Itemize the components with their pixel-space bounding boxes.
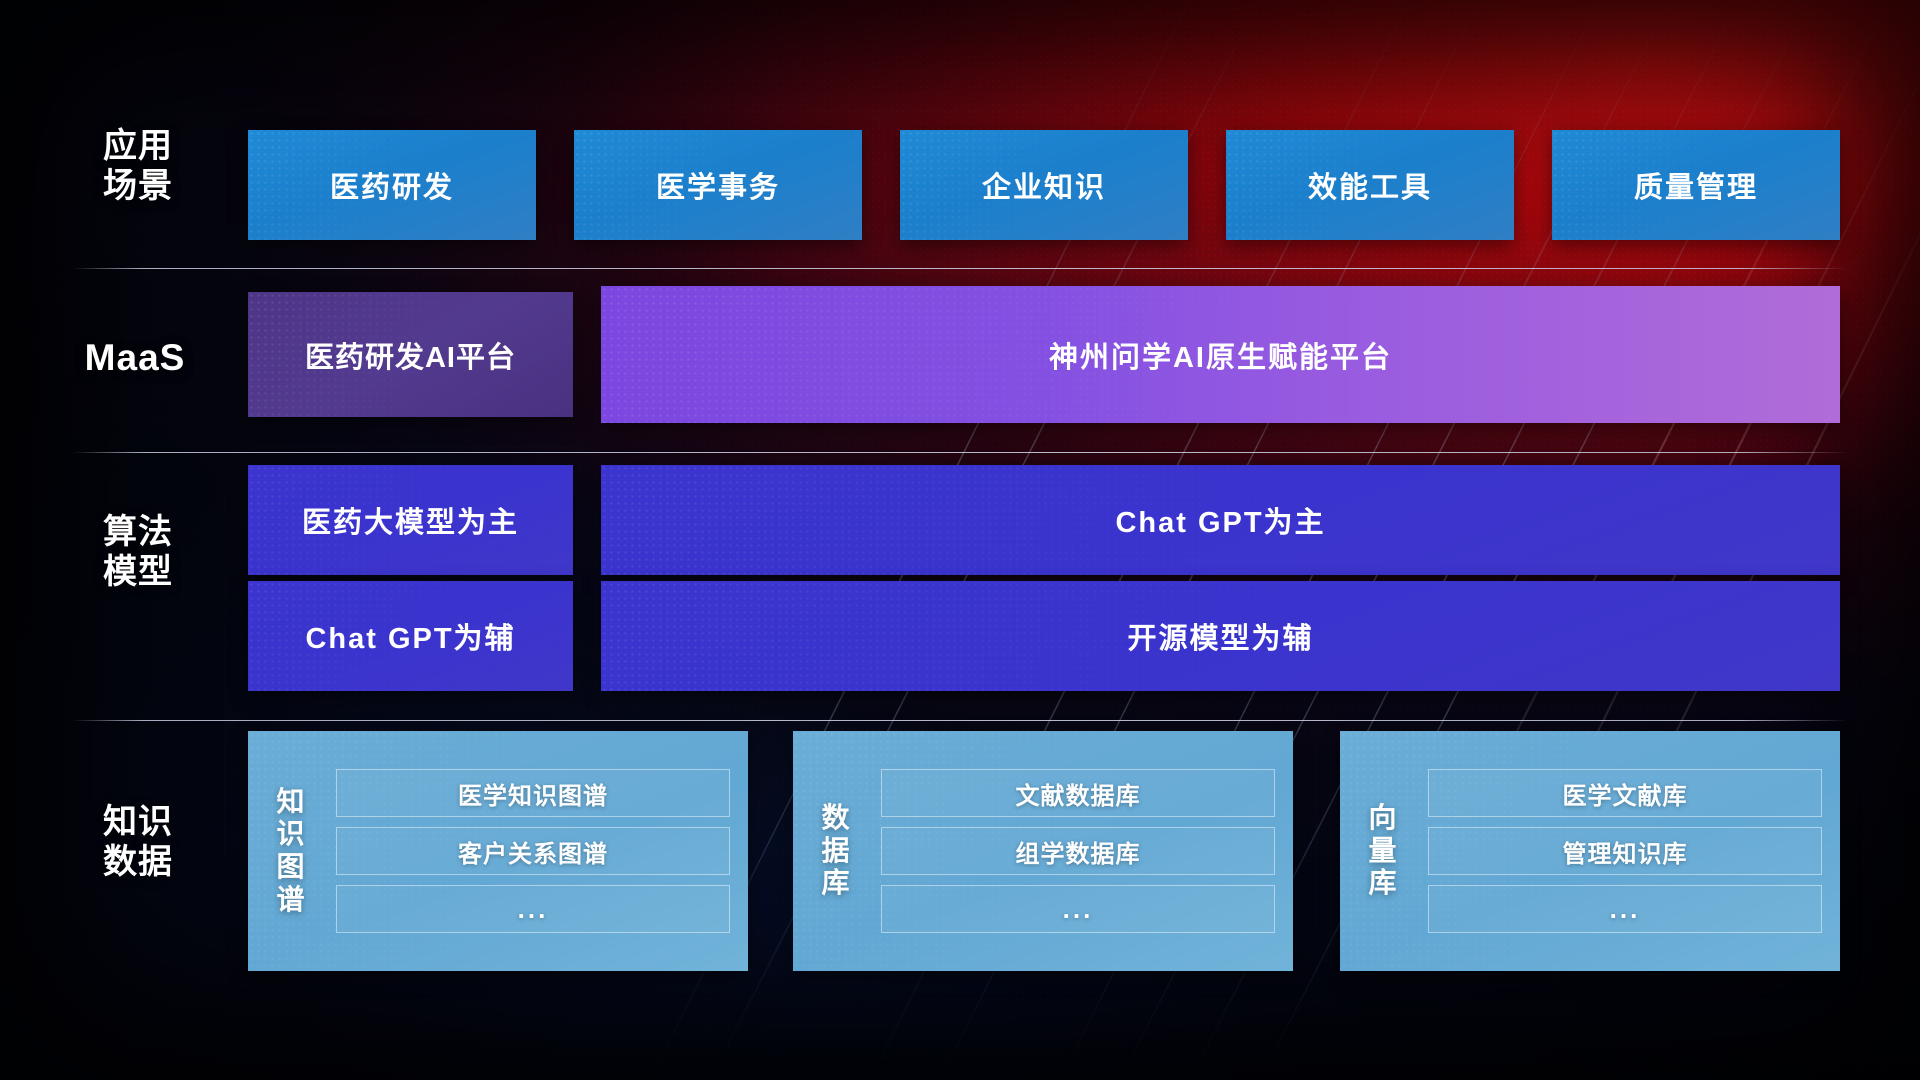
app-box-label: 医药研发 bbox=[330, 164, 454, 206]
knowledge-group-label-char: 量 bbox=[1368, 835, 1397, 868]
algo-box-label: 开源模型为辅 bbox=[1127, 615, 1313, 657]
knowledge-group-label-char: 图 bbox=[276, 851, 305, 884]
app-box-medical-affairs[interactable]: 医学事务 bbox=[574, 130, 862, 240]
tier-label-application-line1: 应用 bbox=[78, 126, 198, 166]
app-box-label: 医学事务 bbox=[656, 164, 780, 206]
knowledge-item[interactable]: 客户关系图谱 bbox=[336, 827, 730, 875]
knowledge-item[interactable]: 文献数据库 bbox=[881, 769, 1275, 817]
tier-label-maas: MaaS bbox=[70, 336, 200, 380]
knowledge-group-label-char: 库 bbox=[1368, 867, 1397, 900]
tier-label-application: 应用 场景 bbox=[78, 126, 198, 206]
tier-label-knowledge-line2: 数据 bbox=[78, 842, 198, 882]
maas-left-label: 医药研发AI平台 bbox=[305, 334, 516, 376]
algo-box-chatgpt-secondary[interactable]: Chat GPT为辅 bbox=[248, 581, 573, 691]
algo-box-label: Chat GPT为主 bbox=[1115, 499, 1325, 541]
knowledge-group-label: 知 识 图 谱 bbox=[248, 731, 334, 971]
knowledge-item[interactable]: 组学数据库 bbox=[881, 827, 1275, 875]
algo-box-medicine-llm-primary[interactable]: 医药大模型为主 bbox=[248, 465, 573, 575]
knowledge-group-label-char: 知 bbox=[276, 786, 305, 819]
knowledge-group-label-char: 库 bbox=[821, 867, 850, 900]
app-box-label: 效能工具 bbox=[1308, 164, 1432, 206]
knowledge-item[interactable]: 管理知识库 bbox=[1428, 827, 1822, 875]
tier-label-algorithm-line2: 模型 bbox=[78, 552, 198, 592]
maas-box-shenzhou-wenxue-platform[interactable]: 神州问学AI原生赋能平台 bbox=[601, 286, 1840, 423]
algo-box-label: 医药大模型为主 bbox=[302, 499, 519, 541]
knowledge-group-label-char: 谱 bbox=[276, 884, 305, 917]
knowledge-item-more[interactable]: ... bbox=[1428, 885, 1822, 933]
knowledge-group-label: 数 据 库 bbox=[793, 731, 879, 971]
knowledge-group-vector-store[interactable]: 向 量 库 医学文献库 管理知识库 ... bbox=[1340, 731, 1840, 971]
app-box-efficiency-tools[interactable]: 效能工具 bbox=[1226, 130, 1514, 240]
divider-application-maas bbox=[72, 268, 1848, 269]
knowledge-group-items: 文献数据库 组学数据库 ... bbox=[879, 731, 1293, 971]
tier-label-knowledge-line1: 知识 bbox=[78, 802, 198, 842]
tier-label-maas-line1: MaaS bbox=[70, 336, 200, 380]
tier-label-application-line2: 场景 bbox=[78, 166, 198, 206]
knowledge-group-label: 向 量 库 bbox=[1340, 731, 1426, 971]
algo-box-chatgpt-primary[interactable]: Chat GPT为主 bbox=[601, 465, 1840, 575]
knowledge-group-label-char: 据 bbox=[821, 835, 850, 868]
app-box-enterprise-knowledge[interactable]: 企业知识 bbox=[900, 130, 1188, 240]
knowledge-group-label-char: 向 bbox=[1368, 802, 1397, 835]
knowledge-item-more[interactable]: ... bbox=[881, 885, 1275, 933]
knowledge-item[interactable]: 医学文献库 bbox=[1428, 769, 1822, 817]
algo-box-opensource-secondary[interactable]: 开源模型为辅 bbox=[601, 581, 1840, 691]
diagram-canvas: 应用 场景 医药研发 医学事务 企业知识 效能工具 质量管理 MaaS bbox=[0, 0, 1920, 1080]
tier-label-knowledge: 知识 数据 bbox=[78, 802, 198, 882]
app-box-label: 企业知识 bbox=[982, 164, 1106, 206]
knowledge-group-items: 医学文献库 管理知识库 ... bbox=[1426, 731, 1840, 971]
divider-maas-algorithm bbox=[72, 452, 1848, 453]
divider-algorithm-knowledge bbox=[72, 720, 1848, 721]
diagram-content: 应用 场景 医药研发 医学事务 企业知识 效能工具 质量管理 MaaS bbox=[0, 0, 1920, 1080]
knowledge-group-items: 医学知识图谱 客户关系图谱 ... bbox=[334, 731, 748, 971]
app-box-quality-management[interactable]: 质量管理 bbox=[1552, 130, 1840, 240]
maas-right-label: 神州问学AI原生赋能平台 bbox=[1049, 334, 1392, 376]
app-box-medicine-rd[interactable]: 医药研发 bbox=[248, 130, 536, 240]
knowledge-group-label-char: 数 bbox=[821, 802, 850, 835]
knowledge-group-database[interactable]: 数 据 库 文献数据库 组学数据库 ... bbox=[793, 731, 1293, 971]
tier-label-algorithm: 算法 模型 bbox=[78, 512, 198, 592]
knowledge-group-label-char: 识 bbox=[276, 818, 305, 851]
maas-box-medicine-ai-platform[interactable]: 医药研发AI平台 bbox=[248, 292, 573, 417]
knowledge-group-knowledge-graph[interactable]: 知 识 图 谱 医学知识图谱 客户关系图谱 ... bbox=[248, 731, 748, 971]
tier-label-algorithm-line1: 算法 bbox=[78, 512, 198, 552]
knowledge-item[interactable]: 医学知识图谱 bbox=[336, 769, 730, 817]
algo-box-label: Chat GPT为辅 bbox=[305, 615, 515, 657]
knowledge-item-more[interactable]: ... bbox=[336, 885, 730, 933]
app-box-label: 质量管理 bbox=[1634, 164, 1758, 206]
